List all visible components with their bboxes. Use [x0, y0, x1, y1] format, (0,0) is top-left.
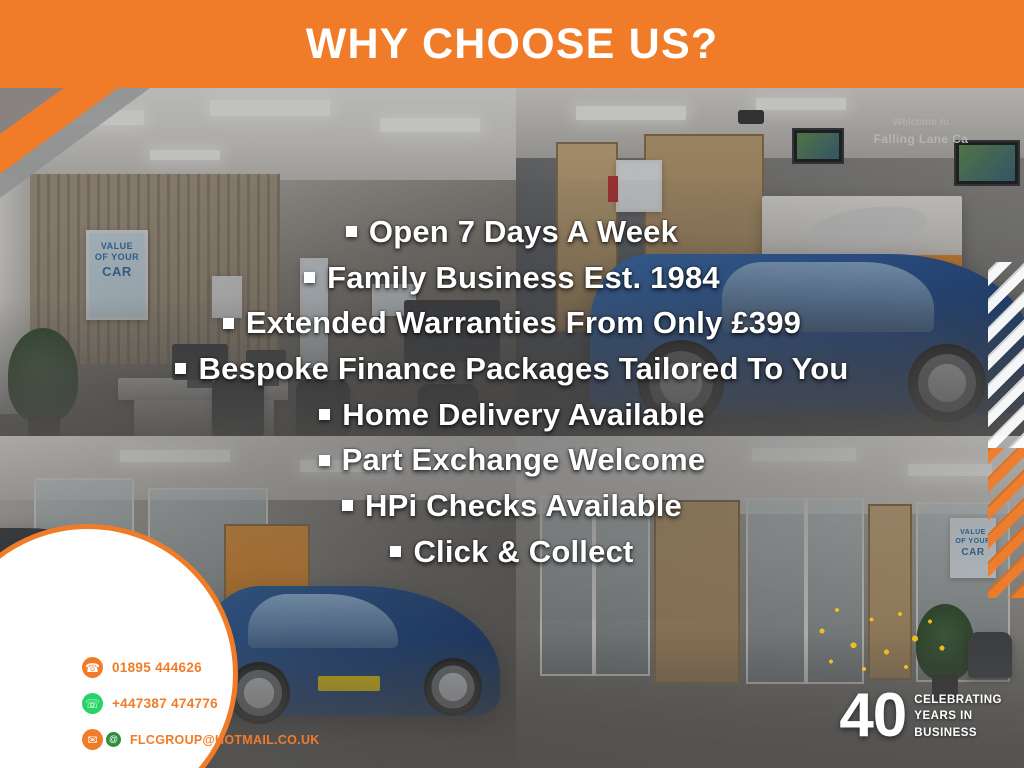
contact-phone[interactable]: ☎ 01895 444626	[82, 657, 312, 678]
whatsapp-icon: ☏	[82, 693, 103, 714]
whatsapp-number: +447387 474776	[112, 696, 218, 711]
list-item: Extended Warranties From Only £399	[223, 303, 801, 343]
bullet-square-icon	[175, 363, 186, 374]
list-item: Bespoke Finance Packages Tailored To You	[175, 349, 848, 389]
email-address: FLCGROUP@HOTMAIL.CO.UK	[130, 733, 320, 747]
at-sign-icon: @	[106, 732, 121, 747]
list-item: Part Exchange Welcome	[319, 440, 706, 480]
bullet-square-icon	[390, 546, 401, 557]
badge-line-1: CELEBRATING	[914, 692, 1002, 709]
list-item-label: HPi Checks Available	[365, 486, 682, 526]
list-item: Click & Collect	[390, 532, 633, 572]
bullet-square-icon	[304, 272, 315, 283]
phone-number: 01895 444626	[112, 660, 202, 675]
list-item: Open 7 Days A Week	[346, 212, 678, 252]
list-item-label: Open 7 Days A Week	[369, 212, 678, 252]
corner-decoration-top-left	[0, 88, 150, 198]
contact-email[interactable]: ✉ @ FLCGROUP@HOTMAIL.CO.UK	[82, 729, 312, 750]
bullet-square-icon	[346, 226, 357, 237]
list-item-label: Click & Collect	[413, 532, 633, 572]
list-item-label: Part Exchange Welcome	[342, 440, 706, 480]
phone-icon: ☎	[82, 657, 103, 678]
contact-whatsapp[interactable]: ☏ +447387 474776	[82, 693, 312, 714]
list-item-label: Family Business Est. 1984	[327, 258, 720, 298]
anniversary-badge: 40 CELEBRATING YEARS IN BUSINESS	[839, 691, 1002, 742]
badge-text: CELEBRATING YEARS IN BUSINESS	[914, 692, 1002, 742]
bullet-square-icon	[319, 455, 330, 466]
benefits-list: Open 7 Days A Week Family Business Est. …	[0, 212, 1024, 571]
list-item-label: Home Delivery Available	[342, 395, 704, 435]
poster-canvas: VALUE OF YOUR CAR	[0, 0, 1024, 768]
badge-line-3: BUSINESS	[914, 725, 1002, 742]
list-item: Family Business Est. 1984	[304, 258, 720, 298]
page-title: WHY CHOOSE US?	[306, 20, 719, 69]
bullet-square-icon	[223, 318, 234, 329]
bullet-square-icon	[319, 409, 330, 420]
contact-details: ☎ 01895 444626 ☏ +447387 474776 ✉ @ FLCG…	[82, 657, 312, 750]
list-item-label: Extended Warranties From Only £399	[246, 303, 801, 343]
email-icon: ✉	[82, 729, 103, 750]
email-icon-pair: ✉ @	[82, 729, 121, 750]
list-item: Home Delivery Available	[319, 395, 704, 435]
list-item-label: Bespoke Finance Packages Tailored To You	[198, 349, 848, 389]
list-item: HPi Checks Available	[342, 486, 682, 526]
bullet-square-icon	[342, 500, 353, 511]
header-band: WHY CHOOSE US?	[0, 0, 1024, 88]
badge-line-2: YEARS IN	[914, 708, 1002, 725]
corner-triangle-cut	[0, 88, 64, 134]
badge-number: 40	[839, 691, 906, 742]
